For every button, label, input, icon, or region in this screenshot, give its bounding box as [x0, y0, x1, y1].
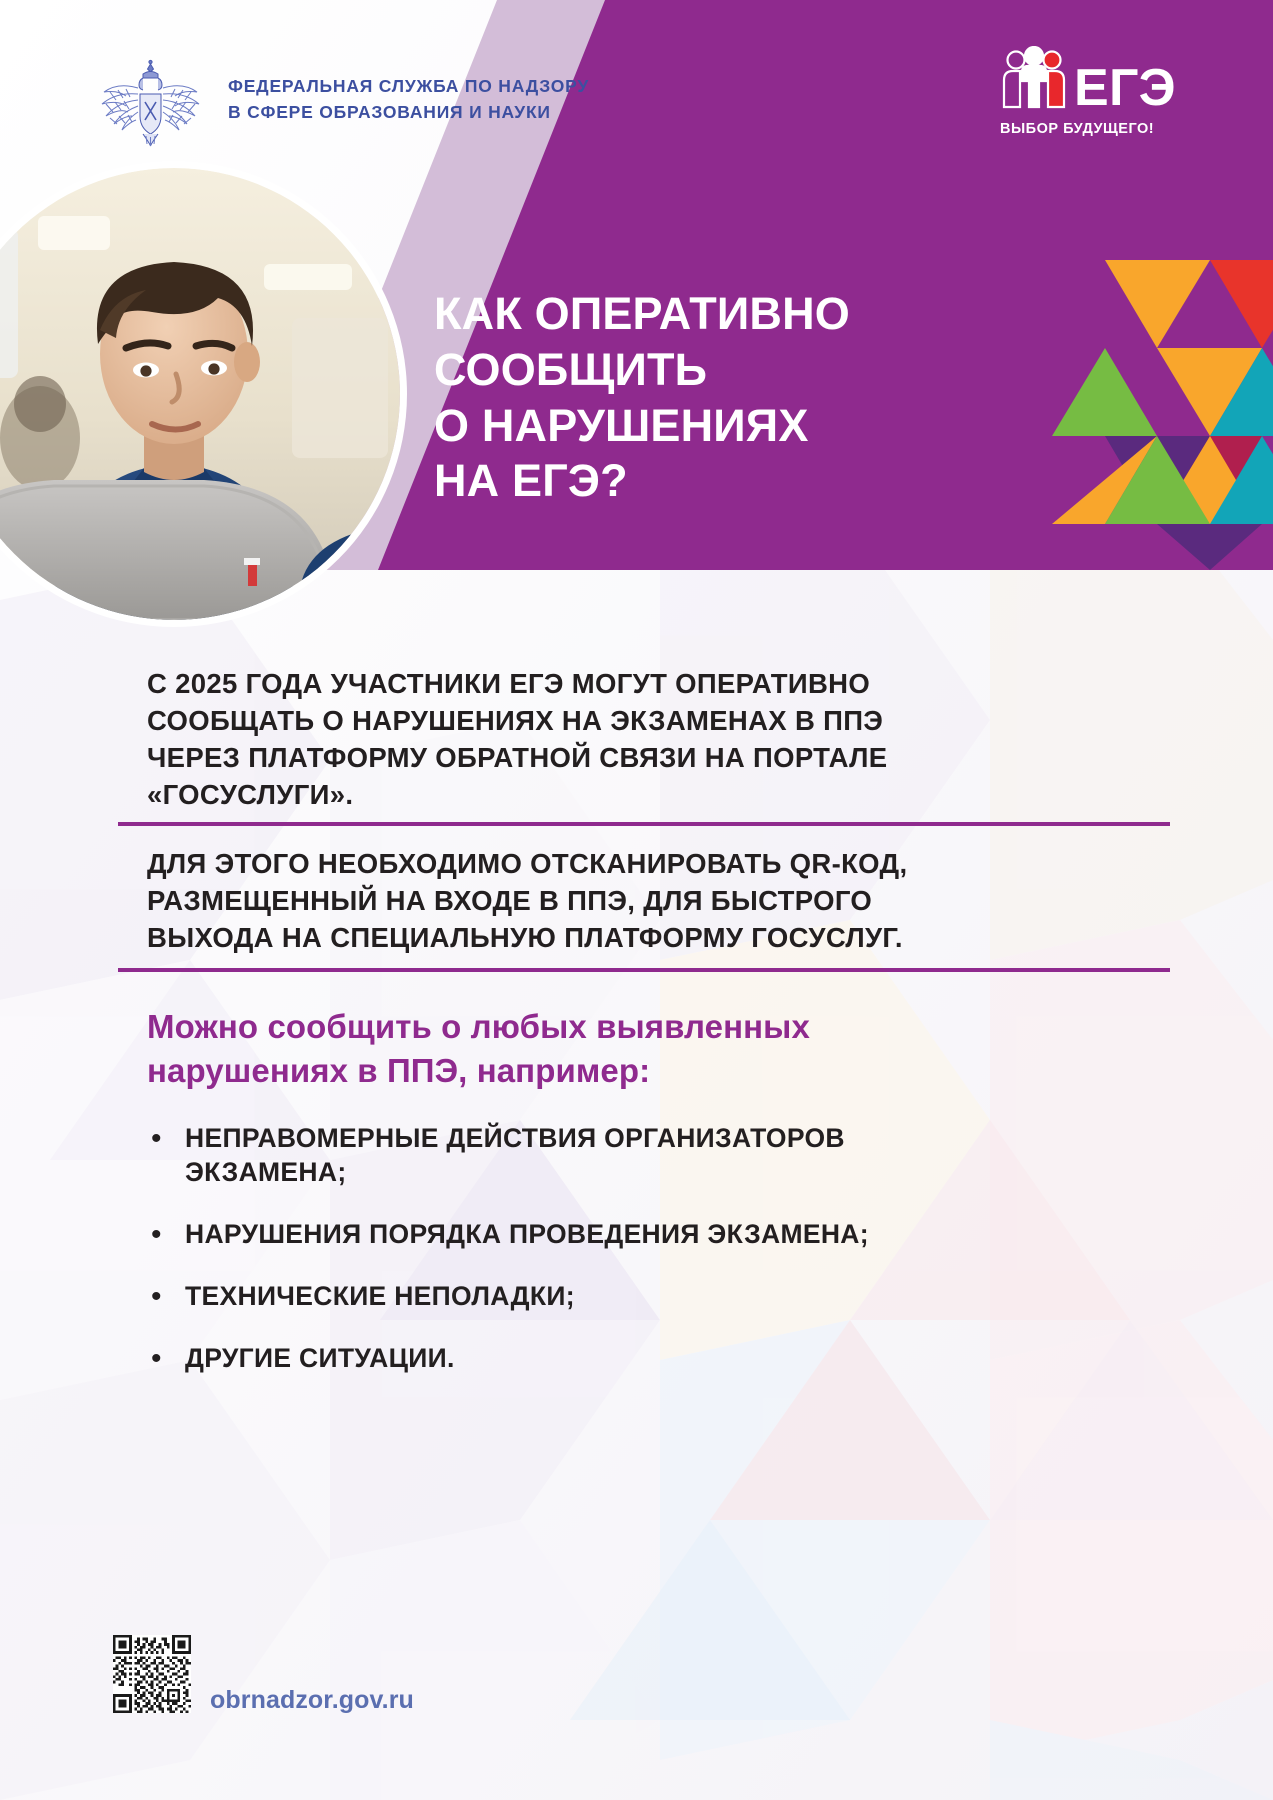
three-people-raising-hands-icon — [1000, 46, 1068, 114]
violation-list: • НЕПРАВОМЕРНЫЕ ДЕЙСТВИЯ ОРГАНИЗАТОРОВ Э… — [147, 1122, 967, 1404]
page-title-line-1: КАК ОПЕРАТИВНО — [434, 286, 994, 342]
page-title-line-2: СООБЩИТЬ — [434, 342, 994, 398]
ege-logo-row: ЕГЭ — [1000, 42, 1180, 114]
list-item-text: НЕПРАВОМЕРНЫЕ ДЕЙСТВИЯ ОРГАНИЗАТОРОВ ЭКЗ… — [185, 1122, 845, 1190]
lead-heading-line-1: Можно сообщить о любых выявленных — [147, 1005, 947, 1049]
agency-name: ФЕДЕРАЛЬНАЯ СЛУЖБА ПО НАДЗОРУ В СФЕРЕ ОБ… — [228, 74, 589, 126]
instruction-paragraph-line-1: ДЛЯ ЭТОГО НЕОБХОДИМО ОТСКАНИРОВАТЬ QR-КО… — [147, 845, 937, 882]
list-item-text-line-2: ЭКЗАМЕНА; — [185, 1156, 845, 1190]
bullet-marker-icon: • — [147, 1280, 185, 1314]
bullet-marker-icon: • — [147, 1122, 185, 1156]
list-item-text: НАРУШЕНИЯ ПОРЯДКА ПРОВЕДЕНИЯ ЭКЗАМЕНА; — [185, 1218, 869, 1252]
list-item: • ДРУГИЕ СИТУАЦИИ. — [147, 1342, 967, 1376]
website-link[interactable]: obrnadzor.gov.ru — [210, 1686, 414, 1715]
bullet-marker-icon: • — [147, 1218, 185, 1252]
ege-tagline: ВЫБОР БУДУЩЕГО! — [1000, 121, 1180, 137]
intro-paragraph-line-4: «ГОСУСЛУГИ». — [147, 776, 937, 813]
divider-bottom — [118, 968, 1170, 972]
list-item-text-line-1: ТЕХНИЧЕСКИЕ НЕПОЛАДКИ; — [185, 1280, 575, 1314]
intro-paragraph-line-2: СООБЩАТЬ О НАРУШЕНИЯХ НА ЭКЗАМЕНАХ В ППЭ — [147, 702, 937, 739]
list-item: • НАРУШЕНИЯ ПОРЯДКА ПРОВЕДЕНИЯ ЭКЗАМЕНА; — [147, 1218, 967, 1252]
page-title-line-4: НА ЕГЭ? — [434, 453, 994, 509]
ege-logo: ЕГЭ ВЫБОР БУДУЩЕГО! — [1000, 42, 1180, 142]
lead-heading: Можно сообщить о любых выявленных наруше… — [147, 1005, 947, 1092]
instruction-paragraph-line-3: ВЫХОДА НА СПЕЦИАЛЬНУЮ ПЛАТФОРМУ ГОСУСЛУГ… — [147, 919, 937, 956]
list-item: • НЕПРАВОМЕРНЫЕ ДЕЙСТВИЯ ОРГАНИЗАТОРОВ Э… — [147, 1122, 967, 1190]
qr-code-icon[interactable] — [113, 1635, 191, 1713]
list-item-text: ТЕХНИЧЕСКИЕ НЕПОЛАДКИ; — [185, 1280, 575, 1314]
page-title: КАК ОПЕРАТИВНО СООБЩИТЬ О НАРУШЕНИЯХ НА … — [434, 286, 994, 509]
poster: ФЕДЕРАЛЬНАЯ СЛУЖБА ПО НАДЗОРУ В СФЕРЕ ОБ… — [0, 0, 1273, 1800]
rosobrnadzor-emblem-icon — [88, 58, 213, 148]
intro-paragraph-line-3: ЧЕРЕЗ ПЛАТФОРМУ ОБРАТНОЙ СВЯЗИ НА ПОРТАЛ… — [147, 739, 937, 776]
list-item: • ТЕХНИЧЕСКИЕ НЕПОЛАДКИ; — [147, 1280, 967, 1314]
list-item-text-line-1: НЕПРАВОМЕРНЫЕ ДЕЙСТВИЯ ОРГАНИЗАТОРОВ — [185, 1122, 845, 1156]
list-item-text-line-1: НАРУШЕНИЯ ПОРЯДКА ПРОВЕДЕНИЯ ЭКЗАМЕНА; — [185, 1218, 869, 1252]
list-item-text-line-1: ДРУГИЕ СИТУАЦИИ. — [185, 1342, 455, 1376]
bullet-marker-icon: • — [147, 1342, 185, 1376]
instruction-paragraph: ДЛЯ ЭТОГО НЕОБХОДИМО ОТСКАНИРОВАТЬ QR-КО… — [147, 845, 937, 956]
instruction-paragraph-line-2: РАЗМЕЩЕННЫЙ НА ВХОДЕ В ППЭ, ДЛЯ БЫСТРОГО — [147, 882, 937, 919]
agency-name-line-2: В СФЕРЕ ОБРАЗОВАНИЯ И НАУКИ — [228, 100, 589, 126]
intro-paragraph-line-1: С 2025 ГОДА УЧАСТНИКИ ЕГЭ МОГУТ ОПЕРАТИВ… — [147, 665, 937, 702]
ege-wordmark: ЕГЭ — [1074, 64, 1176, 114]
intro-paragraph: С 2025 ГОДА УЧАСТНИКИ ЕГЭ МОГУТ ОПЕРАТИВ… — [147, 665, 937, 814]
lead-heading-line-2: нарушениях в ППЭ, например: — [147, 1049, 947, 1093]
divider-top — [118, 822, 1170, 826]
list-item-text: ДРУГИЕ СИТУАЦИИ. — [185, 1342, 455, 1376]
page-title-line-3: О НАРУШЕНИЯХ — [434, 398, 994, 454]
agency-name-line-1: ФЕДЕРАЛЬНАЯ СЛУЖБА ПО НАДЗОРУ — [228, 74, 589, 100]
